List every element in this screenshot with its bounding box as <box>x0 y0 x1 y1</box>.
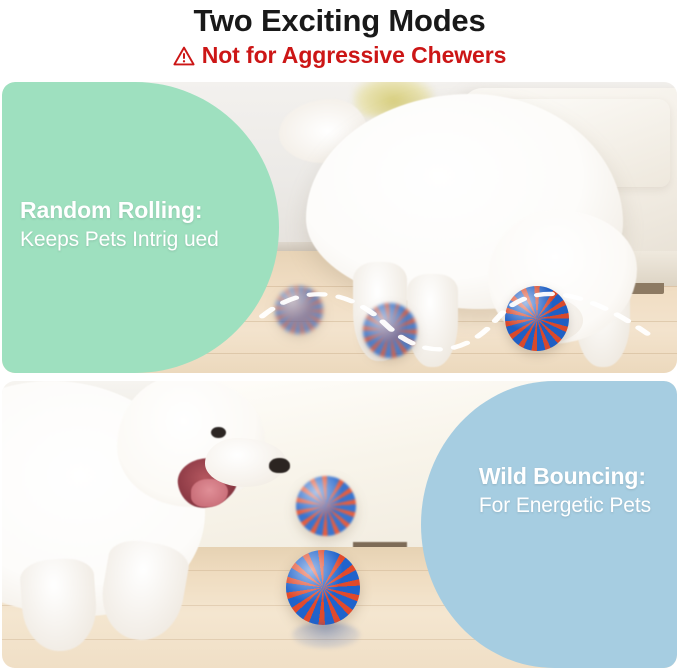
dog-nose <box>269 458 289 472</box>
toy-ball-reflection <box>292 622 360 648</box>
header: Two Exciting Modes Not for Aggressive Ch… <box>0 0 679 80</box>
caption-wild-bouncing: Wild Bouncing: For Energetic Pets <box>479 461 651 520</box>
caption-random-rolling: Random Rolling: Keeps Pets Intrig ued <box>20 195 219 254</box>
warning-subtitle-text: Not for Aggressive Chewers <box>202 42 507 69</box>
page-title: Two Exciting Modes <box>0 0 679 40</box>
warning-subtitle-row: Not for Aggressive Chewers <box>0 42 679 69</box>
accent-shape-blue <box>421 381 678 668</box>
panel-random-rolling: Random Rolling: Keeps Pets Intrig ued <box>2 82 677 373</box>
rolling-path-dashed-line <box>259 286 651 362</box>
toy-ball <box>286 550 360 625</box>
caption-subtitle: For Energetic Pets <box>479 491 651 520</box>
warning-triangle-icon <box>173 46 195 66</box>
caption-subtitle: Keeps Pets Intrig ued <box>20 225 219 254</box>
caption-title: Random Rolling: <box>20 195 219 225</box>
toy-ball-bouncing <box>296 476 357 536</box>
caption-title: Wild Bouncing: <box>479 461 651 491</box>
panel-wild-bouncing: Wild Bouncing: For Energetic Pets <box>2 381 677 668</box>
